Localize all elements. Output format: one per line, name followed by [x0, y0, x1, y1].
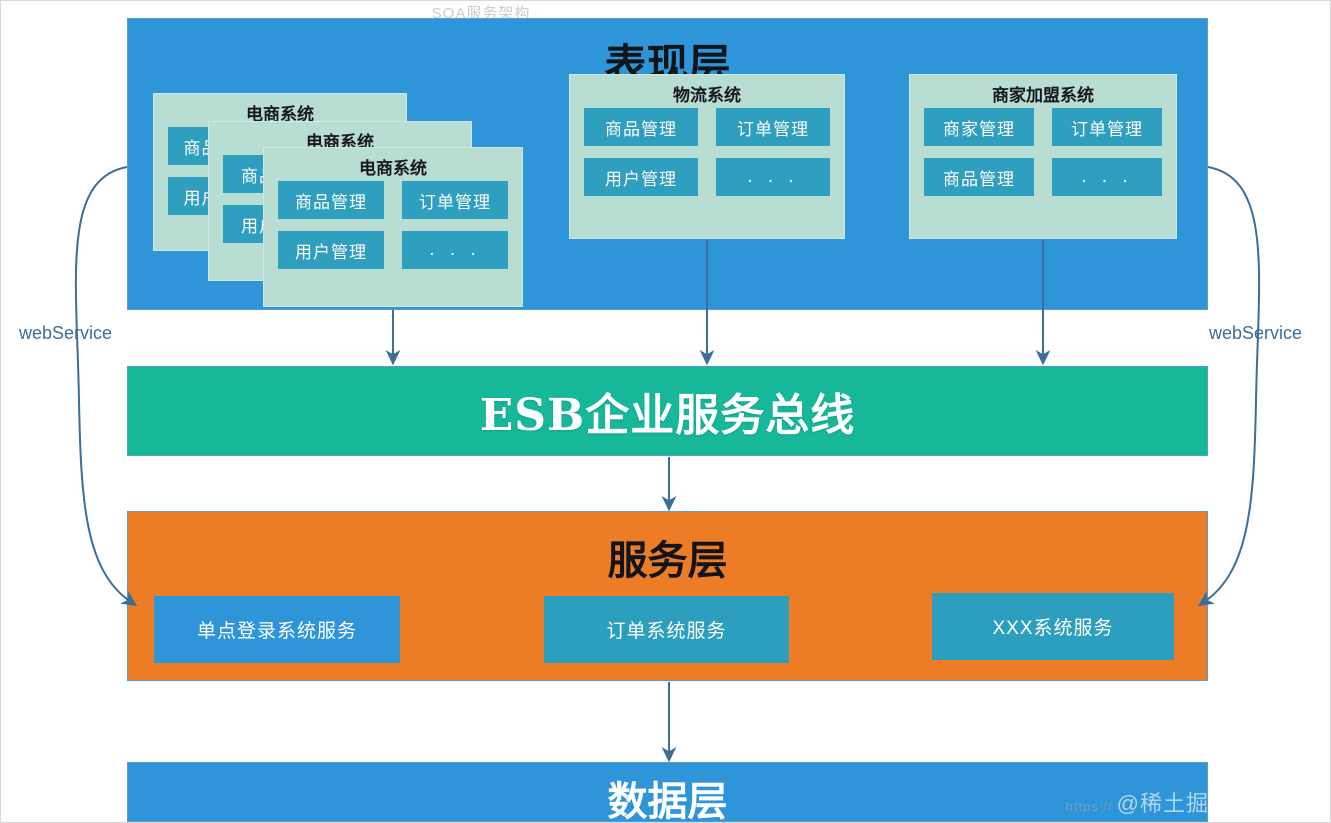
service-box-sso[interactable]: 单点登录系统服务: [154, 596, 400, 663]
system-button-order-mgmt[interactable]: 订单管理: [1052, 108, 1162, 146]
service-box-order[interactable]: 订单系统服务: [544, 596, 789, 663]
system-button-more[interactable]: . . .: [1052, 158, 1162, 196]
data-layer-title: 数据层: [128, 769, 1207, 823]
esb-layer-title: ESB企业服务总线: [128, 379, 1207, 443]
system-button-user-mgmt[interactable]: 用户管理: [584, 158, 698, 196]
system-button-grid: 商家管理 订单管理 商品管理 . . .: [924, 108, 1162, 196]
system-button-grid: 商品管理 订单管理 用户管理 . . .: [278, 181, 508, 269]
system-card-logistics[interactable]: 物流系统 商品管理 订单管理 用户管理 . . .: [569, 74, 845, 239]
watermark-handle: @稀土掘金技术社区: [1117, 791, 1324, 816]
watermark-url: https://: [1066, 799, 1113, 814]
system-button-merchant-mgmt[interactable]: 商家管理: [924, 108, 1034, 146]
webservice-label-right: webService: [1209, 323, 1302, 344]
system-button-more[interactable]: . . .: [402, 231, 508, 269]
system-button-order-mgmt[interactable]: 订单管理: [402, 181, 508, 219]
system-button-product-mgmt[interactable]: 商品管理: [924, 158, 1034, 196]
system-button-product-mgmt[interactable]: 商品管理: [584, 108, 698, 146]
service-layer-title: 服务层: [128, 528, 1207, 586]
esb-layer: ESB企业服务总线: [127, 366, 1208, 456]
system-card-title: 物流系统: [570, 81, 844, 106]
system-button-more[interactable]: . . .: [716, 158, 830, 196]
system-card-title: 商家加盟系统: [910, 81, 1176, 106]
system-button-user-mgmt[interactable]: 用户管理: [278, 231, 384, 269]
system-card-ecommerce-front[interactable]: 电商系统 商品管理 订单管理 用户管理 . . .: [263, 147, 523, 307]
arrow-webservice-left: [76, 167, 131, 602]
arrow-webservice-right: [1204, 167, 1259, 602]
system-button-product-mgmt[interactable]: 商品管理: [278, 181, 384, 219]
system-card-title: 电商系统: [264, 154, 522, 179]
diagram-canvas: SOA服务架构 表现层 电商系统 商品管理 订单管理 用户管理 . . . 电商…: [0, 0, 1331, 823]
webservice-label-left: webService: [19, 323, 112, 344]
system-button-order-mgmt[interactable]: 订单管理: [716, 108, 830, 146]
system-card-merchant[interactable]: 商家加盟系统 商家管理 订单管理 商品管理 . . .: [909, 74, 1177, 239]
watermark: https://@稀土掘金技术社区: [1066, 786, 1324, 818]
service-box-xxx[interactable]: XXX系统服务: [932, 593, 1174, 660]
data-layer: 数据层: [127, 762, 1208, 822]
system-button-grid: 商品管理 订单管理 用户管理 . . .: [584, 108, 830, 196]
